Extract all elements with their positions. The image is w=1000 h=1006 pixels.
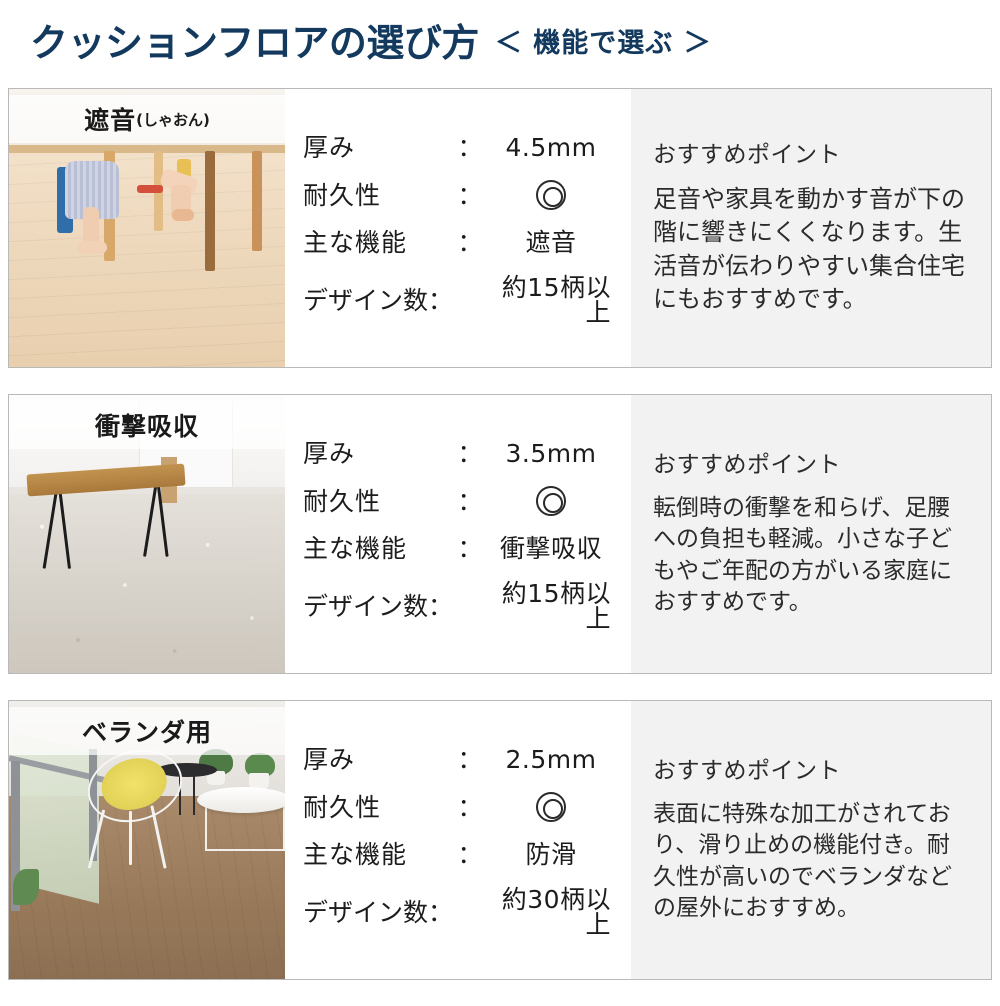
- spec-colon: ：: [455, 183, 485, 208]
- photo-label-main: ベランダ用: [82, 713, 212, 749]
- spec-row-main-function: 主な機能 ： 防滑: [303, 842, 617, 867]
- spec-label: 厚み: [303, 747, 455, 772]
- spec-table: 厚み ： 2.5mm 耐久性 ： 主な機能 ： 防滑 デザイン数：: [285, 701, 631, 979]
- double-circle-icon: [536, 486, 566, 516]
- spec-table: 厚み ： 3.5mm 耐久性 ： 主な機能 ： 衝撃吸収 デザイン数：: [285, 395, 631, 673]
- spec-value-main-function: 遮音: [485, 230, 617, 255]
- spec-row-durability: 耐久性 ：: [303, 486, 617, 516]
- product-photo-veranda: ベランダ用: [9, 701, 285, 979]
- spec-label: 厚み: [303, 135, 455, 160]
- spec-row-design-count: デザイン数： 約15柄以上: [303, 581, 617, 631]
- spec-value-durability: [485, 792, 617, 822]
- spec-value-thickness: 3.5mm: [485, 441, 617, 466]
- spec-label: 厚み: [303, 441, 455, 466]
- spec-label: 主な機能: [303, 536, 455, 561]
- spec-colon: ：: [455, 441, 485, 466]
- double-circle-icon: [536, 180, 566, 210]
- spec-colon: ：: [455, 536, 485, 561]
- recommend-panel: おすすめポイント 足音や家具を動かす音が下の階に響きにくくなります。生活音が伝わ…: [631, 89, 991, 367]
- page-subtitle: ＜ 機能で選ぶ ＞: [495, 30, 712, 57]
- spec-label: 主な機能: [303, 842, 455, 867]
- photo-label-main: 衝撃吸収: [95, 407, 199, 443]
- spec-value-design-count: 約15柄以上: [485, 581, 617, 631]
- recommend-panel: おすすめポイント 転倒時の衝撃を和らげ、足腰への負担も軽減。小さな子どもやご年配…: [631, 395, 991, 673]
- product-photo-shock-absorption: 衝撃吸収: [9, 395, 285, 673]
- spec-row-design-count: デザイン数： 約30柄以上: [303, 887, 617, 937]
- photo-label-main: 遮音: [84, 101, 136, 137]
- comparison-card: 衝撃吸収 厚み ： 3.5mm 耐久性 ： 主な機能 ：: [8, 394, 992, 674]
- photo-label-reading: (しゃおん): [136, 109, 210, 130]
- recommend-panel: おすすめポイント 表面に特殊な加工がされており、滑り止めの機能付き。耐久性が高い…: [631, 701, 991, 979]
- photo-label-banner: 衝撃吸収: [9, 401, 285, 449]
- spec-value-thickness: 2.5mm: [485, 747, 617, 772]
- spec-colon: ：: [455, 230, 485, 255]
- spec-row-durability: 耐久性 ：: [303, 180, 617, 210]
- spec-label: 耐久性: [303, 183, 455, 208]
- page-title: クッションフロアの選び方: [30, 24, 479, 62]
- recommend-body: 表面に特殊な加工がされており、滑り止めの機能付き。耐久性が高いのでベランダなどの…: [653, 799, 971, 924]
- spec-row-main-function: 主な機能 ： 遮音: [303, 230, 617, 255]
- spec-label: デザイン数：: [303, 594, 485, 619]
- infographic-page: クッションフロアの選び方 ＜ 機能で選ぶ ＞: [0, 0, 1000, 1000]
- spec-value-durability: [485, 180, 617, 210]
- photo-label-banner: ベランダ用: [9, 707, 285, 755]
- spec-label: 耐久性: [303, 489, 455, 514]
- product-photo-shaon: 遮音 (しゃおん): [9, 89, 285, 367]
- spec-value-main-function: 防滑: [485, 842, 617, 867]
- photo-label-banner: 遮音 (しゃおん): [9, 95, 285, 143]
- spec-row-thickness: 厚み ： 4.5mm: [303, 135, 617, 160]
- spec-value-design-count: 約15柄以上: [485, 275, 617, 325]
- spec-value-durability: [485, 486, 617, 516]
- recommend-heading: おすすめポイント: [653, 454, 971, 477]
- spec-colon: ：: [455, 747, 485, 772]
- spec-label: デザイン数：: [303, 900, 485, 925]
- spec-colon: ：: [455, 795, 485, 820]
- recommend-heading: おすすめポイント: [653, 144, 971, 167]
- spec-colon: ：: [455, 135, 485, 160]
- recommend-body: 足音や家具を動かす音が下の階に響きにくくなります。生活音が伝わりやすい集合住宅に…: [653, 183, 971, 315]
- page-header: クッションフロアの選び方 ＜ 機能で選ぶ ＞: [0, 0, 1000, 86]
- spec-row-thickness: 厚み ： 3.5mm: [303, 441, 617, 466]
- comparison-card: ベランダ用 厚み ： 2.5mm 耐久性 ： 主な機能 ：: [8, 700, 992, 980]
- spec-label: 主な機能: [303, 230, 455, 255]
- spec-value-design-count: 約30柄以上: [485, 887, 617, 937]
- comparison-card: 遮音 (しゃおん) 厚み ： 4.5mm 耐久性 ： 主な機能 ：: [8, 88, 992, 368]
- recommend-body: 転倒時の衝撃を和らげ、足腰への負担も軽減。小さな子どもやご年配の方がいる家庭にお…: [653, 493, 971, 618]
- spec-value-main-function: 衝撃吸収: [485, 536, 617, 561]
- spec-row-thickness: 厚み ： 2.5mm: [303, 747, 617, 772]
- spec-colon: ：: [455, 842, 485, 867]
- spec-colon: ：: [455, 489, 485, 514]
- spec-row-durability: 耐久性 ：: [303, 792, 617, 822]
- spec-value-thickness: 4.5mm: [485, 135, 617, 160]
- comparison-card-list: 遮音 (しゃおん) 厚み ： 4.5mm 耐久性 ： 主な機能 ：: [8, 88, 992, 1006]
- double-circle-icon: [536, 792, 566, 822]
- spec-row-design-count: デザイン数： 約15柄以上: [303, 275, 617, 325]
- spec-row-main-function: 主な機能 ： 衝撃吸収: [303, 536, 617, 561]
- spec-label: 耐久性: [303, 795, 455, 820]
- spec-table: 厚み ： 4.5mm 耐久性 ： 主な機能 ： 遮音 デザイン数：: [285, 89, 631, 367]
- spec-label: デザイン数：: [303, 288, 485, 313]
- recommend-heading: おすすめポイント: [653, 760, 971, 783]
